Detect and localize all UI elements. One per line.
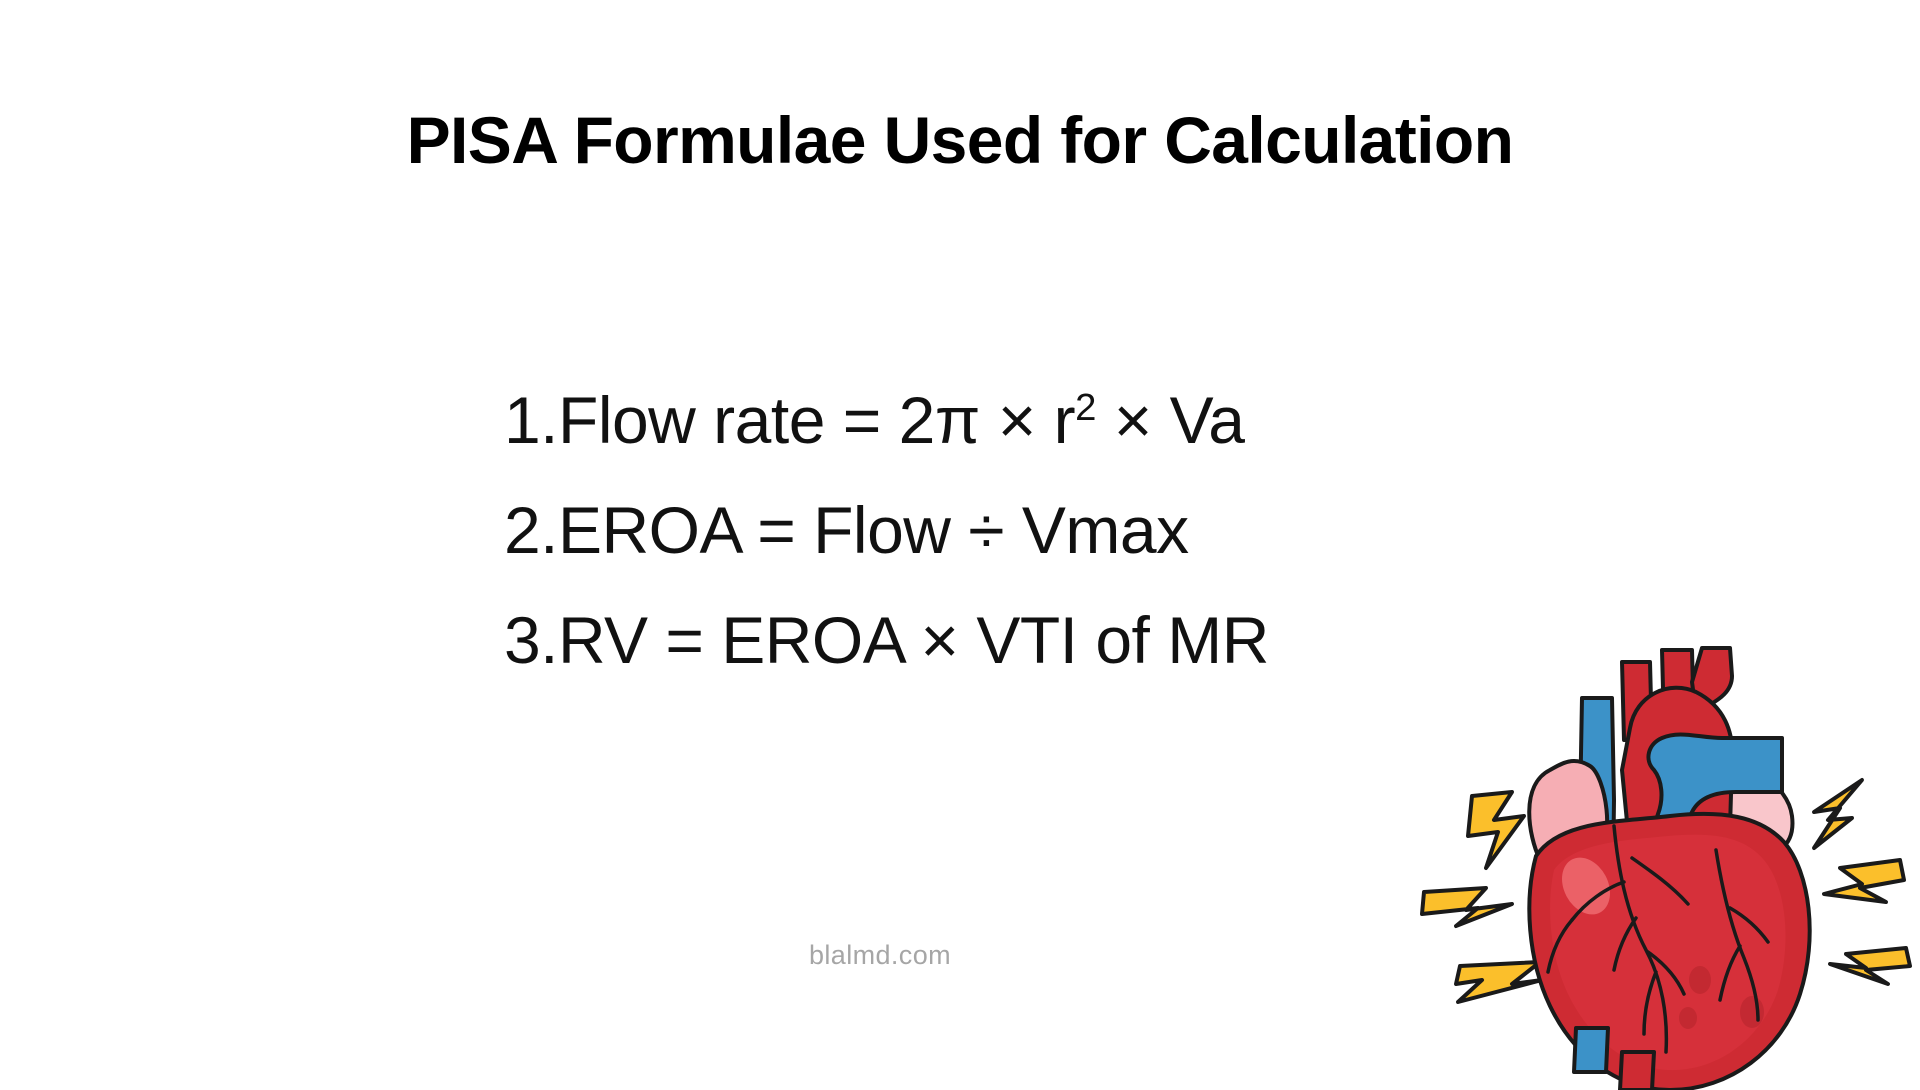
formula-text-suffix: × Va: [1096, 383, 1245, 457]
formula-item-2: 2. EROA = Flow ÷ Vmax: [0, 488, 1920, 574]
page-title: PISA Formulae Used for Calculation: [0, 106, 1920, 176]
formula-marker: 1.: [500, 378, 558, 464]
formula-text: RV = EROA × VTI of MR: [558, 598, 1420, 684]
lightning-bolt-icon: [1468, 792, 1524, 868]
formula-text-prefix: Flow rate = 2π × r: [558, 383, 1075, 457]
watermark-text: blalmd.com: [809, 940, 951, 970]
lightning-bolt-icon: [1456, 962, 1542, 1002]
formula-superscript: 2: [1075, 386, 1096, 429]
formula-text: EROA = Flow ÷ Vmax: [558, 488, 1420, 574]
heart-illustration: [1400, 620, 1920, 1090]
lightning-bolt-icon: [1422, 888, 1512, 926]
lightning-bolt-icon: [1814, 780, 1862, 848]
slide-canvas: PISA Formulae Used for Calculation 1. Fl…: [0, 0, 1920, 1080]
lightning-bolt-icon: [1830, 948, 1910, 984]
formula-marker: 3.: [500, 598, 558, 684]
formula-marker: 2.: [500, 488, 558, 574]
formula-text: Flow rate = 2π × r2 × Va: [558, 378, 1420, 464]
formula-item-1: 1. Flow rate = 2π × r2 × Va: [0, 378, 1920, 464]
lightning-bolt-icon: [1824, 860, 1904, 902]
